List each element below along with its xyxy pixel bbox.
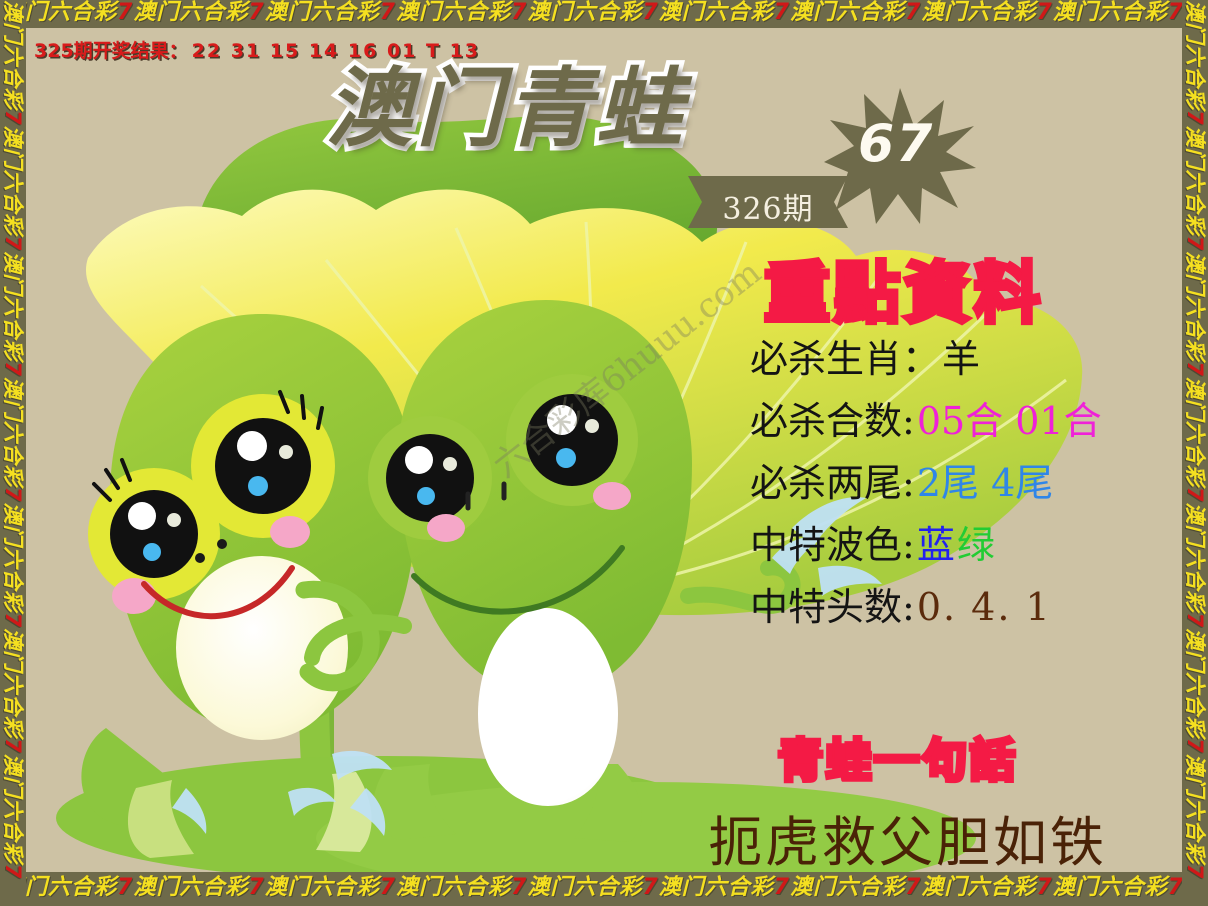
frame-band-top: 澳门六合彩7澳门六合彩7澳门六合彩7澳门六合彩7澳门六合彩7澳门六合彩7澳门六合… — [0, 0, 1208, 28]
key-data-rows: 必杀生肖：羊 必杀合数:05合 01合 必杀两尾:2尾 4尾 中特波色:蓝绿 中… — [750, 328, 1180, 638]
row-sha-heshu: 必杀合数:05合 01合 — [750, 390, 1180, 452]
row-value: 2尾 4尾 — [917, 461, 1053, 505]
frame-band-bottom: 澳门六合彩7澳门六合彩7澳门六合彩7澳门六合彩7澳门六合彩7澳门六合彩7澳门六合… — [0, 872, 1208, 906]
quote-phrase: 扼虎救父胆如铁 — [708, 798, 1107, 872]
row-sha-shengxiao: 必杀生肖：羊 — [750, 328, 1180, 390]
frame-band-top-text: 澳门六合彩7澳门六合彩7澳门六合彩7澳门六合彩7澳门六合彩7澳门六合彩7澳门六合… — [2, 2, 1184, 24]
row-label: 中特波色: — [750, 523, 915, 567]
row-value: 羊 — [942, 337, 980, 381]
row-zhongte-toushu: 中特头数:0. 4. 1 — [750, 576, 1180, 638]
frame-band-left-text: 澳门六合彩7澳门六合彩7澳门六合彩7澳门六合彩7澳门六合彩7澳门六合彩7澳门六合… — [2, 0, 23, 906]
row-value-green: 绿 — [957, 523, 995, 567]
row-label: 中特头数: — [750, 585, 915, 629]
page-title: 澳门青蛙 — [326, 66, 686, 152]
row-sha-liangwei: 必杀两尾:2尾 4尾 — [750, 452, 1180, 514]
frame-band-right-text: 澳门六合彩7澳门六合彩7澳门六合彩7澳门六合彩7澳门六合彩7澳门六合彩7澳门六合… — [1184, 0, 1205, 906]
poster-canvas: 六合彩库6huuu.com 325期开奖结果：22 31 15 14 16 01… — [26, 28, 1182, 872]
row-label: 必杀两尾: — [750, 461, 915, 505]
frame-band-bottom-text: 澳门六合彩7澳门六合彩7澳门六合彩7澳门六合彩7澳门六合彩7澳门六合彩7澳门六合… — [2, 877, 1184, 899]
frame-band-right: 澳门六合彩7澳门六合彩7澳门六合彩7澳门六合彩7澳门六合彩7澳门六合彩7澳门六合… — [1182, 0, 1208, 906]
poster-root: 六合彩库6huuu.com 325期开奖结果：22 31 15 14 16 01… — [0, 0, 1208, 906]
row-zhongte-bose: 中特波色:蓝绿 — [750, 514, 1180, 576]
burst-number: 67 — [858, 114, 934, 174]
row-label: 必杀合数: — [750, 399, 915, 443]
key-section-heading: 重點資料 — [764, 240, 1044, 336]
quote-section-heading: 青蛙一句話 — [778, 724, 1018, 789]
row-value: 0. 4. 1 — [917, 585, 1052, 629]
issue-number: 326期 — [688, 184, 848, 228]
draw-result-label: 325期开奖结果： — [34, 40, 188, 62]
row-value: 05合 01合 — [917, 399, 1102, 443]
row-value-blue: 蓝 — [917, 523, 955, 567]
frame-band-left: 澳门六合彩7澳门六合彩7澳门六合彩7澳门六合彩7澳门六合彩7澳门六合彩7澳门六合… — [0, 0, 26, 906]
row-label: 必杀生肖： — [750, 337, 940, 381]
